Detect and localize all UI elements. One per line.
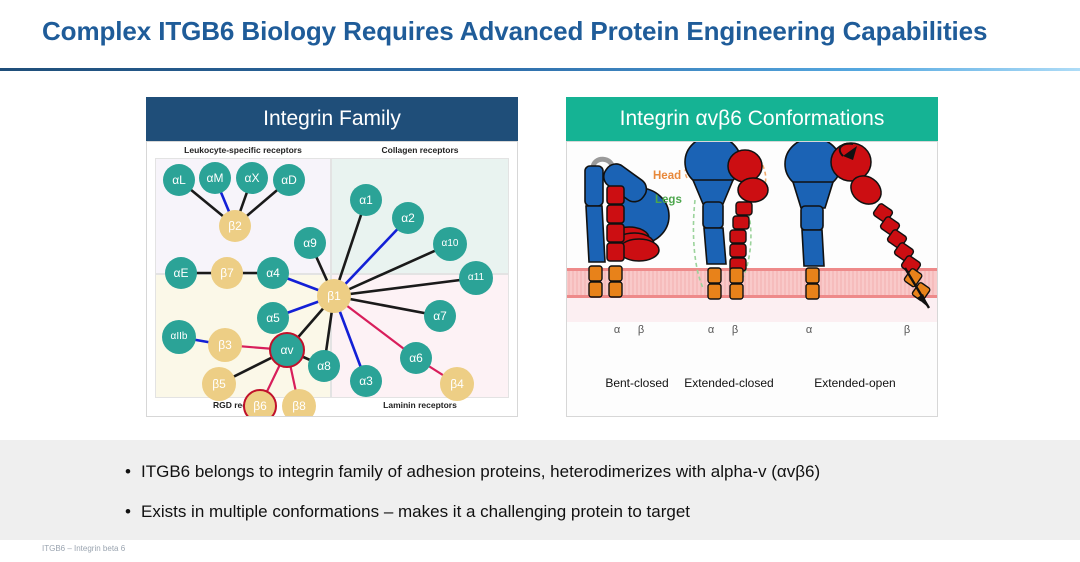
integrin-node-label: αL bbox=[172, 174, 186, 186]
subunit-label-0-0: α bbox=[607, 324, 627, 336]
integrin-node-label: α7 bbox=[433, 310, 447, 322]
integrin-node-label: β4 bbox=[450, 378, 464, 390]
integrin-node-a2[interactable]: α2 bbox=[392, 202, 424, 234]
bullet-marker: • bbox=[125, 462, 141, 482]
integrin-node-a3[interactable]: α3 bbox=[350, 365, 382, 397]
integrin-node-label: β3 bbox=[218, 339, 232, 351]
integrin-node-label: α4 bbox=[266, 267, 280, 279]
integrin-node-a7[interactable]: α7 bbox=[424, 300, 456, 332]
integrin-node-b7[interactable]: β7 bbox=[211, 257, 243, 289]
integrin-node-label: α10 bbox=[442, 239, 459, 249]
integrin-node-aM[interactable]: αM bbox=[199, 162, 231, 194]
conformation-label-2: Extended-open bbox=[795, 376, 915, 390]
integrin-node-a9[interactable]: α9 bbox=[294, 227, 326, 259]
integrin-node-label: α5 bbox=[266, 312, 280, 324]
integrin-node-label: αIIb bbox=[171, 332, 188, 342]
integrin-node-label: α11 bbox=[468, 273, 484, 283]
integrin-node-aX[interactable]: αX bbox=[236, 162, 268, 194]
integrin-node-a1[interactable]: α1 bbox=[350, 184, 382, 216]
integrin-node-label: β2 bbox=[228, 220, 242, 232]
conformations-header: Integrin αvβ6 Conformations bbox=[566, 97, 938, 141]
integrin-node-a6[interactable]: α6 bbox=[400, 342, 432, 374]
subunit-label-0-1: β bbox=[631, 324, 651, 336]
integrin-node-label: α2 bbox=[401, 212, 415, 224]
integrin-node-label: α1 bbox=[359, 194, 373, 206]
integrin-node-aL[interactable]: αL bbox=[163, 164, 195, 196]
integrin-node-aE[interactable]: αE bbox=[165, 257, 197, 289]
integrin-node-b3[interactable]: β3 bbox=[208, 328, 242, 362]
integrin-node-a8[interactable]: α8 bbox=[308, 350, 340, 382]
page-title: Complex ITGB6 Biology Requires Advanced … bbox=[42, 16, 1042, 47]
integrin-node-label: β5 bbox=[212, 378, 226, 390]
integrin-node-b5[interactable]: β5 bbox=[202, 367, 236, 401]
legs-region-label: Legs bbox=[655, 194, 682, 206]
bullet-marker: • bbox=[125, 502, 141, 522]
subunit-label-1-1: β bbox=[725, 324, 745, 336]
conformations-diagram: Head Legs Bent-closedαβExtended-closedαβ… bbox=[566, 141, 938, 417]
integrin-node-label: αM bbox=[207, 172, 224, 184]
integrin-family-panel: Integrin Family Leukocyte-specific recep… bbox=[146, 97, 518, 417]
integrin-node-label: α6 bbox=[409, 352, 423, 364]
subunit-label-2-1: β bbox=[897, 324, 917, 336]
conformations-panel: Integrin αvβ6 Conformations Head Legs Be… bbox=[566, 97, 938, 417]
integrin-node-a11[interactable]: α11 bbox=[459, 261, 493, 295]
integrin-node-b6[interactable]: β6 bbox=[243, 389, 277, 417]
integrin-node-label: α3 bbox=[359, 375, 373, 387]
integrin-family-header: Integrin Family bbox=[146, 97, 518, 141]
integrin-family-diagram: Leukocyte-specific receptors Collagen re… bbox=[146, 141, 518, 417]
integrin-node-label: β1 bbox=[327, 290, 341, 302]
integrin-node-label: β8 bbox=[292, 400, 306, 412]
integrin-node-label: α8 bbox=[317, 360, 331, 372]
integrin-node-label: αE bbox=[174, 267, 189, 279]
integrin-node-label: αX bbox=[245, 172, 260, 184]
slide-footer: ITGB6 – Integrin beta 6 bbox=[42, 544, 125, 553]
head-region-label: Head bbox=[653, 170, 681, 182]
bullet-text: ITGB6 belongs to integrin family of adhe… bbox=[141, 462, 820, 482]
integrin-node-label: β6 bbox=[253, 400, 267, 412]
integrin-node-a5[interactable]: α5 bbox=[257, 302, 289, 334]
conformations-illustration bbox=[567, 142, 937, 414]
integrin-node-a4[interactable]: α4 bbox=[257, 257, 289, 289]
integrin-node-label: αD bbox=[281, 174, 297, 186]
integrin-node-label: αv bbox=[281, 344, 294, 356]
integrin-node-label: α9 bbox=[303, 237, 317, 249]
integrin-node-aIIb[interactable]: αIIb bbox=[162, 320, 196, 354]
subunit-label-1-0: α bbox=[701, 324, 721, 336]
list-item: • Exists in multiple conformations – mak… bbox=[125, 502, 690, 522]
title-divider bbox=[0, 68, 1080, 71]
conformation-label-1: Extended-closed bbox=[669, 376, 789, 390]
integrin-node-b2[interactable]: β2 bbox=[219, 210, 251, 242]
subunit-label-2-0: α bbox=[799, 324, 819, 336]
list-item: • ITGB6 belongs to integrin family of ad… bbox=[125, 462, 820, 482]
bullet-text: Exists in multiple conformations – makes… bbox=[141, 502, 690, 522]
integrin-node-a10[interactable]: α10 bbox=[433, 227, 467, 261]
key-points-panel: • ITGB6 belongs to integrin family of ad… bbox=[0, 440, 1080, 540]
integrin-node-av[interactable]: αv bbox=[269, 332, 305, 368]
integrin-node-b8[interactable]: β8 bbox=[282, 389, 316, 417]
integrin-node-b4[interactable]: β4 bbox=[440, 367, 474, 401]
integrin-node-b1[interactable]: β1 bbox=[317, 279, 351, 313]
integrin-node-aD[interactable]: αD bbox=[273, 164, 305, 196]
integrin-node-label: β7 bbox=[220, 267, 234, 279]
